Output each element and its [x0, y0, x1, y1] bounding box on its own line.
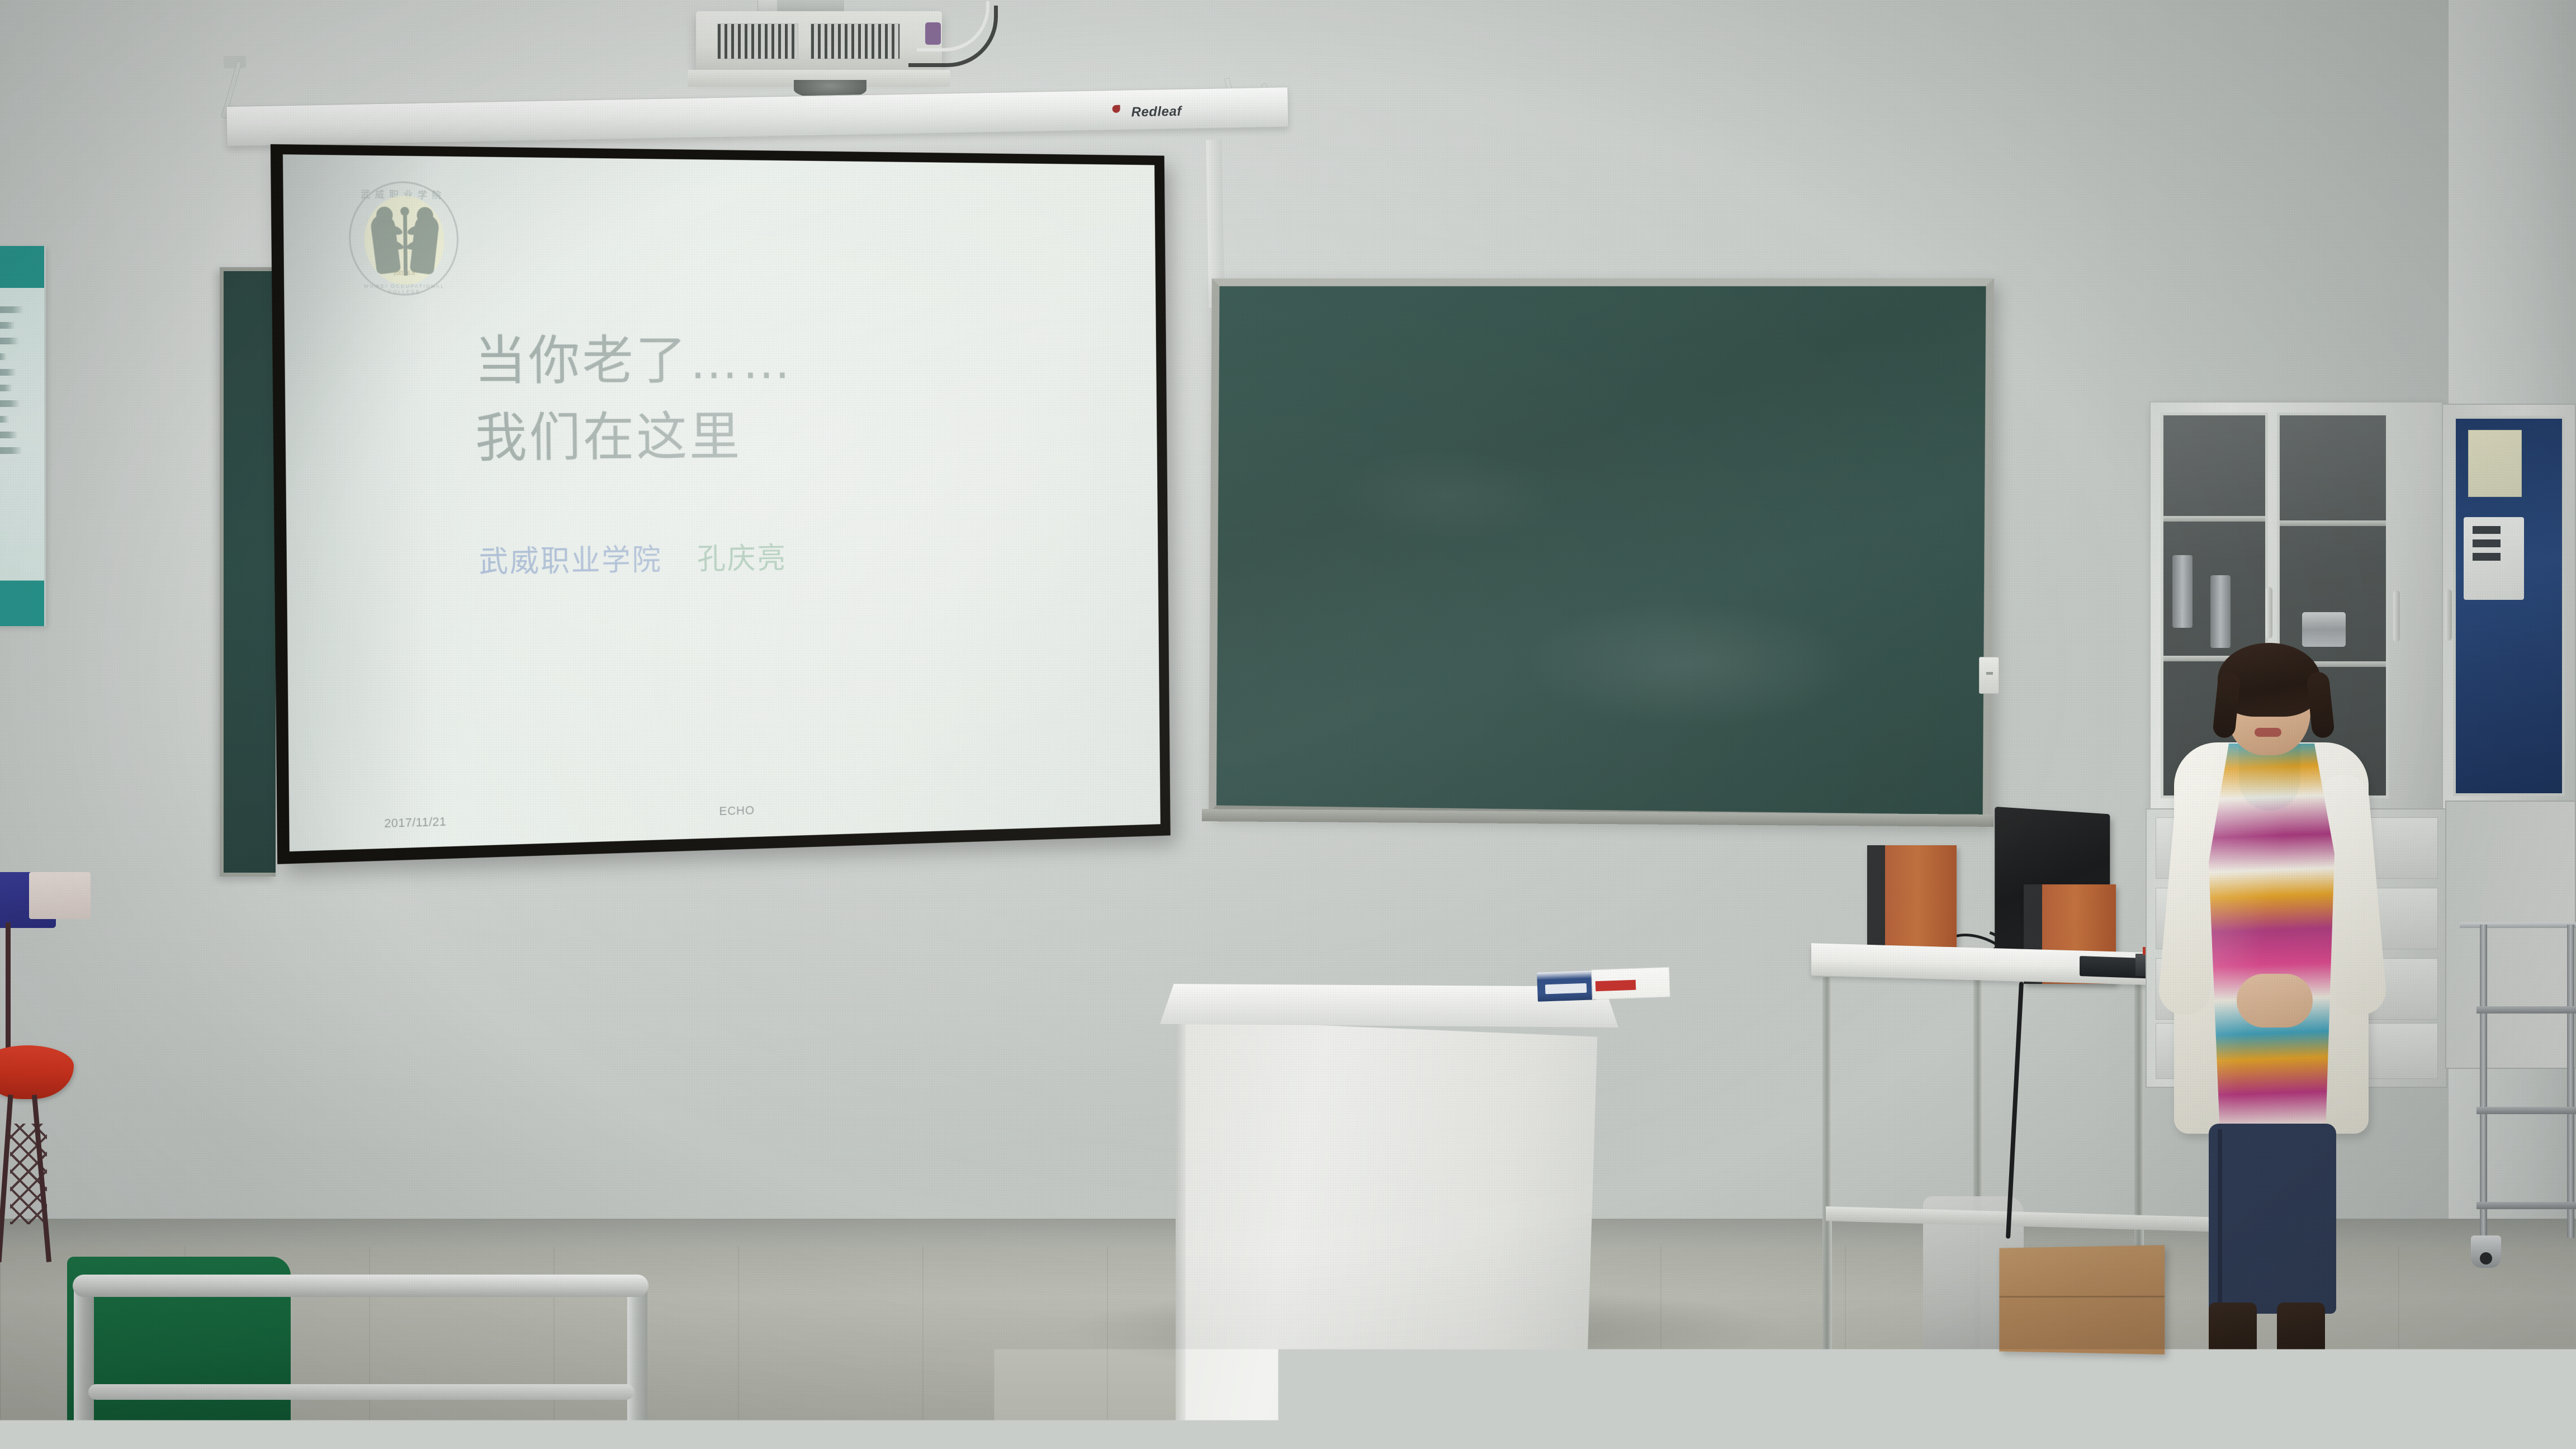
trolley-shelf-3	[2476, 1202, 2576, 1209]
stainless-medical-trolley[interactable]	[2460, 922, 2576, 1291]
bed-rail-left	[74, 1280, 94, 1449]
cabinet-handle-left[interactable]	[2266, 587, 2272, 638]
screen-bracket-plate	[224, 56, 246, 68]
notice-board-text-lines	[0, 297, 35, 463]
cabinet-jar-b	[2210, 575, 2231, 648]
desktop-speaker-left[interactable]	[1867, 845, 1957, 956]
cabinet-wall-device	[2464, 517, 2524, 600]
screen-glare	[283, 154, 1161, 851]
projector-vent-right	[811, 23, 900, 59]
cardboard-carton	[1999, 1245, 2165, 1355]
green-chalkboard-main	[1209, 278, 1994, 823]
stool-frame-post	[6, 922, 11, 1068]
bed-top-rail	[73, 1275, 648, 1297]
projector-vent-left	[717, 23, 798, 59]
chalkboard-smudges	[1216, 286, 1986, 815]
cabinet-shelf-1	[2163, 516, 2265, 522]
bed-cross-rail	[88, 1384, 634, 1400]
glass-front-supply-cabinet-2[interactable]	[2442, 404, 2576, 812]
cabinet-handle-right[interactable]	[2393, 590, 2400, 642]
trolley-post-right	[2567, 925, 2574, 1238]
white-lectern[interactable]	[1160, 984, 1618, 1449]
cabinet-jar-a	[2172, 555, 2193, 628]
trolley-caster-wheel	[2471, 1235, 2501, 1268]
female-presenter	[2155, 643, 2390, 1375]
presenter-boot-left	[2209, 1303, 2257, 1375]
trolley-post-left	[2480, 925, 2487, 1238]
screen-surface: 武威职业学院 2001.6.6 W	[283, 154, 1161, 851]
scarf-highlight	[2209, 744, 2334, 1168]
cabinet-shelf-3	[2280, 520, 2386, 526]
ceiling-projector	[696, 11, 942, 75]
classroom-photo: Redleaf 武威职业学院	[0, 0, 2576, 1449]
lectern-body	[1177, 1020, 1602, 1449]
screen-brand-label: Redleaf	[1131, 104, 1182, 121]
cabinet-notice-card	[2468, 430, 2522, 497]
trolley-top-rail	[2460, 922, 2576, 928]
trolley-shelf-1	[2476, 1006, 2576, 1014]
presenter-hands	[2237, 974, 2313, 1027]
lectern-left-edge	[1176, 1021, 1186, 1449]
presenter-boot-right	[2277, 1303, 2325, 1375]
draped-cloth	[29, 872, 91, 919]
projection-screen[interactable]: 武威职业学院 2001.6.6 W	[271, 144, 1171, 864]
trolley-shelf-2	[2476, 1107, 2576, 1114]
green-chalkboard-left	[220, 267, 276, 877]
cabinet-blue-backing	[2453, 416, 2565, 796]
presenter-scarf	[2209, 744, 2334, 1168]
presenter-leg-seam	[2218, 1129, 2222, 1308]
white-supply-box[interactable]	[1591, 967, 1670, 1000]
bed-rail-right	[627, 1280, 647, 1449]
projector-cable-plug	[925, 22, 941, 45]
basin-stand-ornament	[10, 1124, 47, 1224]
teal-notice-board	[0, 246, 46, 626]
presenter-jeans	[2209, 1124, 2336, 1314]
desk-leg-1	[1822, 977, 1832, 1408]
presenter-hair-side-right	[2306, 671, 2335, 739]
blue-supply-box[interactable]	[1537, 970, 1597, 1002]
cabinet-2-handle[interactable]	[2445, 589, 2452, 641]
cabinet-metal-tin	[2302, 612, 2346, 647]
presenter-mouth	[2255, 728, 2281, 737]
wall-power-outlet	[1979, 657, 1999, 694]
hospital-bed-frame[interactable]	[73, 1275, 648, 1449]
redleaf-logo-icon	[1112, 105, 1120, 113]
